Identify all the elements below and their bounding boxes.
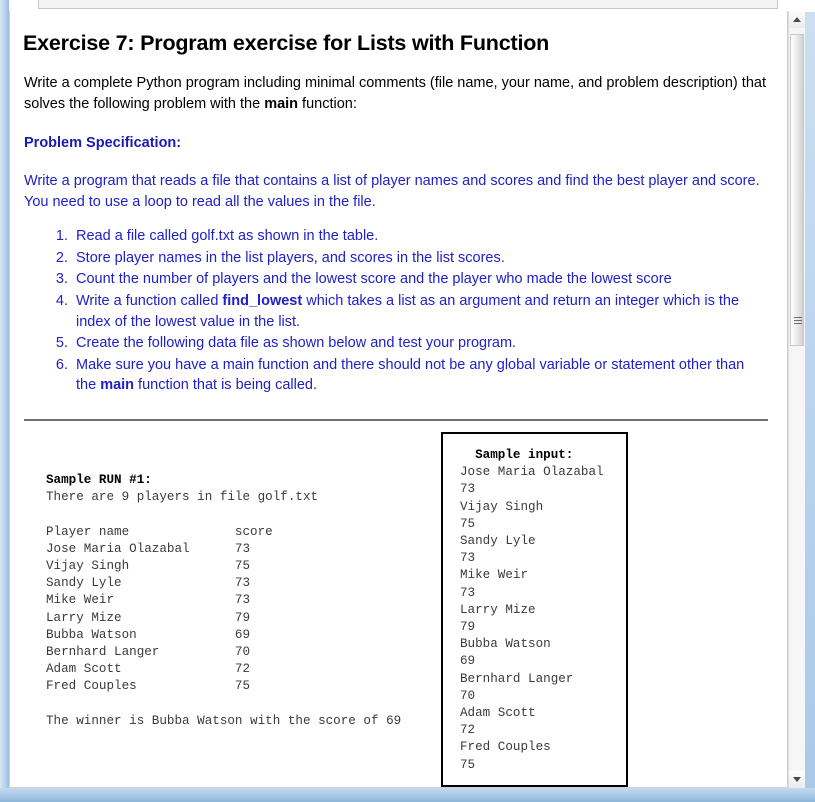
requirement-pre: Store player names in the list players, …: [76, 250, 505, 266]
requirement-pre: Count the number of players and the lowe…: [76, 271, 672, 287]
sample-run-body: There are 9 players in file golf.txt Pla…: [46, 490, 401, 728]
intro-paragraph: Write a complete Python program includin…: [10, 56, 787, 114]
application-window: Exercise 7: Program exercise for Lists w…: [0, 0, 815, 802]
list-item: Make sure you have a main function and t…: [72, 355, 762, 396]
list-item: Store player names in the list players, …: [72, 248, 762, 269]
requirement-bold: main: [100, 377, 134, 393]
scroll-down-button[interactable]: [789, 771, 805, 788]
sample-input-content: Sample input: Jose Maria Olazabal 73 Vij…: [443, 434, 626, 774]
divider-top-wrap: [10, 397, 787, 421]
scrollbar-grip-icon: [794, 317, 802, 324]
vertical-scrollbar[interactable]: [788, 11, 805, 788]
list-item: Write a function called find_lowest whic…: [72, 291, 762, 332]
page-title: Exercise 7: Program exercise for Lists w…: [10, 11, 787, 56]
intro-bold-main: main: [264, 96, 298, 112]
sample-area: Sample RUN #1: There are 9 players in fi…: [10, 421, 787, 788]
requirements-list: Read a file called golf.txt as shown in …: [10, 212, 787, 396]
requirement-pre: Create the following data file as shown …: [76, 335, 516, 351]
requirement-post: function that is being called.: [134, 377, 317, 393]
requirement-pre: Write a function called: [76, 293, 222, 309]
scrollbar-track[interactable]: [789, 28, 805, 771]
requirement-pre: Read a file called golf.txt as shown in …: [76, 228, 378, 244]
list-item: Read a file called golf.txt as shown in …: [72, 226, 762, 247]
sample-input-box: Sample input: Jose Maria Olazabal 73 Vij…: [441, 432, 628, 787]
sample-run-heading: Sample RUN #1:: [46, 473, 152, 487]
intro-text-before: Write a complete Python program includin…: [24, 75, 766, 112]
intro-text-after: function:: [298, 96, 357, 112]
document-content: Exercise 7: Program exercise for Lists w…: [10, 11, 787, 788]
sample-input-heading: Sample input:: [460, 448, 573, 462]
list-item: Count the number of players and the lowe…: [72, 269, 762, 290]
list-item: Create the following data file as shown …: [72, 333, 762, 354]
requirement-bold: find_lowest: [222, 293, 302, 309]
problem-specification-body: Write a program that reads a file that c…: [10, 151, 787, 212]
window-left-chrome: [0, 0, 9, 802]
window-bottom-chrome: [0, 788, 815, 802]
problem-specification-heading: Problem Specification:: [10, 114, 787, 151]
scrollbar-thumb[interactable]: [790, 34, 804, 346]
sample-run-output: Sample RUN #1: There are 9 players in fi…: [46, 472, 401, 730]
sample-input-body: Jose Maria Olazabal 73 Vijay Singh 75 Sa…: [460, 465, 604, 771]
scroll-up-arrow-icon: [793, 17, 801, 22]
toolbar-strip: [38, 0, 778, 9]
scroll-up-button[interactable]: [789, 11, 805, 28]
document-viewport: Exercise 7: Program exercise for Lists w…: [9, 11, 788, 788]
scroll-down-arrow-icon: [793, 777, 801, 782]
